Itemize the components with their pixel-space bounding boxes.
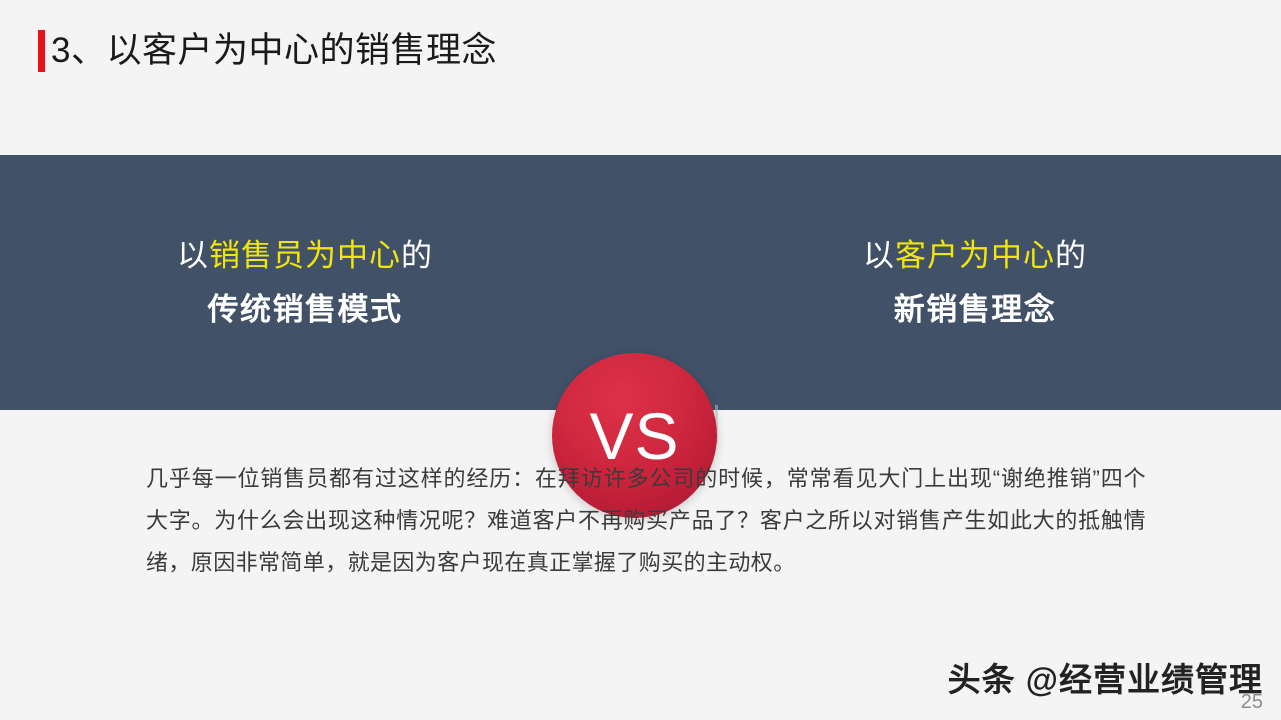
- comparison-left-line1-highlight: 销售员为中心: [209, 238, 401, 273]
- title-accent-bar: [38, 30, 45, 72]
- slide-canvas: 3、以客户为中心的销售理念 以销售员为中心的 传统销售模式 以客户为中心的 新销…: [0, 0, 1281, 720]
- watermark-text: 头条 @经营业绩管理: [948, 660, 1263, 700]
- comparison-left-line1-prefix: 以: [177, 238, 209, 273]
- comparison-right-line1-suffix: 的: [1055, 238, 1087, 273]
- comparison-right-block: 以客户为中心的 新销售理念: [740, 155, 1210, 410]
- comparison-right-line1: 以客户为中心的: [863, 236, 1087, 276]
- comparison-right-line2: 新销售理念: [894, 290, 1057, 330]
- title-text: 3、以客户为中心的销售理念: [51, 29, 497, 73]
- comparison-left-line1: 以销售员为中心的: [177, 236, 433, 276]
- comparison-left-block: 以销售员为中心的 传统销售模式: [70, 155, 540, 410]
- comparison-right-line1-prefix: 以: [863, 238, 895, 273]
- page-title: 3、以客户为中心的销售理念: [38, 26, 497, 76]
- comparison-left-line2: 传统销售模式: [208, 290, 403, 330]
- page-number: 25: [1241, 690, 1263, 714]
- comparison-left-line1-suffix: 的: [401, 238, 433, 273]
- comparison-right-line1-highlight: 客户为中心: [895, 238, 1055, 273]
- comparison-band: 以销售员为中心的 传统销售模式 以客户为中心的 新销售理念 VS: [0, 155, 1281, 410]
- body-paragraph: 几乎每一位销售员都有过这样的经历：在拜访许多公司的时候，常常看见大门上出现“谢绝…: [146, 458, 1146, 584]
